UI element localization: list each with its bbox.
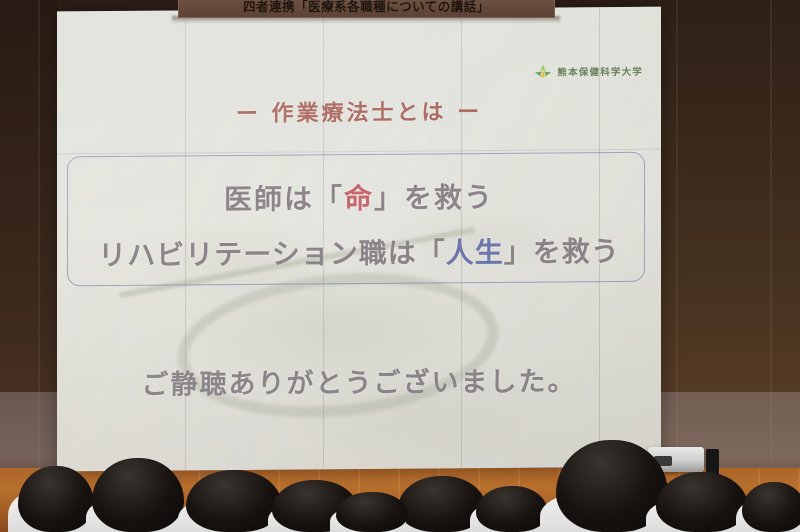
slide-title: ー 作業療法士とは ー [57, 93, 661, 130]
slide-line-2-post: 」を救う [504, 235, 620, 269]
slide-line-1-highlight: 命 [344, 182, 374, 215]
slide-line-1: 医師は「命」を救う [57, 175, 661, 220]
audience-head [18, 466, 94, 532]
audience-head [92, 458, 184, 532]
university-name: 熊本保健科学大学 [557, 64, 643, 79]
slide-line-1-post: 」を救う [374, 181, 494, 215]
photo-scene: 四者連携「医療系各職種についての講話」 熊本保健科学大学 ー 作業療法士とは ー… [0, 0, 800, 532]
audience-head [742, 482, 800, 532]
university-logo: 熊本保健科学大学 [534, 63, 643, 80]
slide-line-2-highlight: 人生 [446, 236, 504, 269]
audience-head [336, 492, 408, 532]
slide-line-2-pre: リハビリテーション職は「 [98, 236, 445, 272]
event-banner: 四者連携「医療系各職種についての講話」 [178, 0, 555, 18]
slide-line-1-pre: 医師は「 [224, 182, 344, 216]
event-banner-text: 四者連携「医療系各職種についての講話」 [243, 1, 490, 14]
audience [0, 392, 800, 532]
slide-line-2: リハビリテーション職は「人生」を救う [57, 230, 661, 275]
audience-head [476, 486, 548, 532]
leaf-mark-icon [534, 63, 552, 79]
audience-head [656, 472, 748, 532]
